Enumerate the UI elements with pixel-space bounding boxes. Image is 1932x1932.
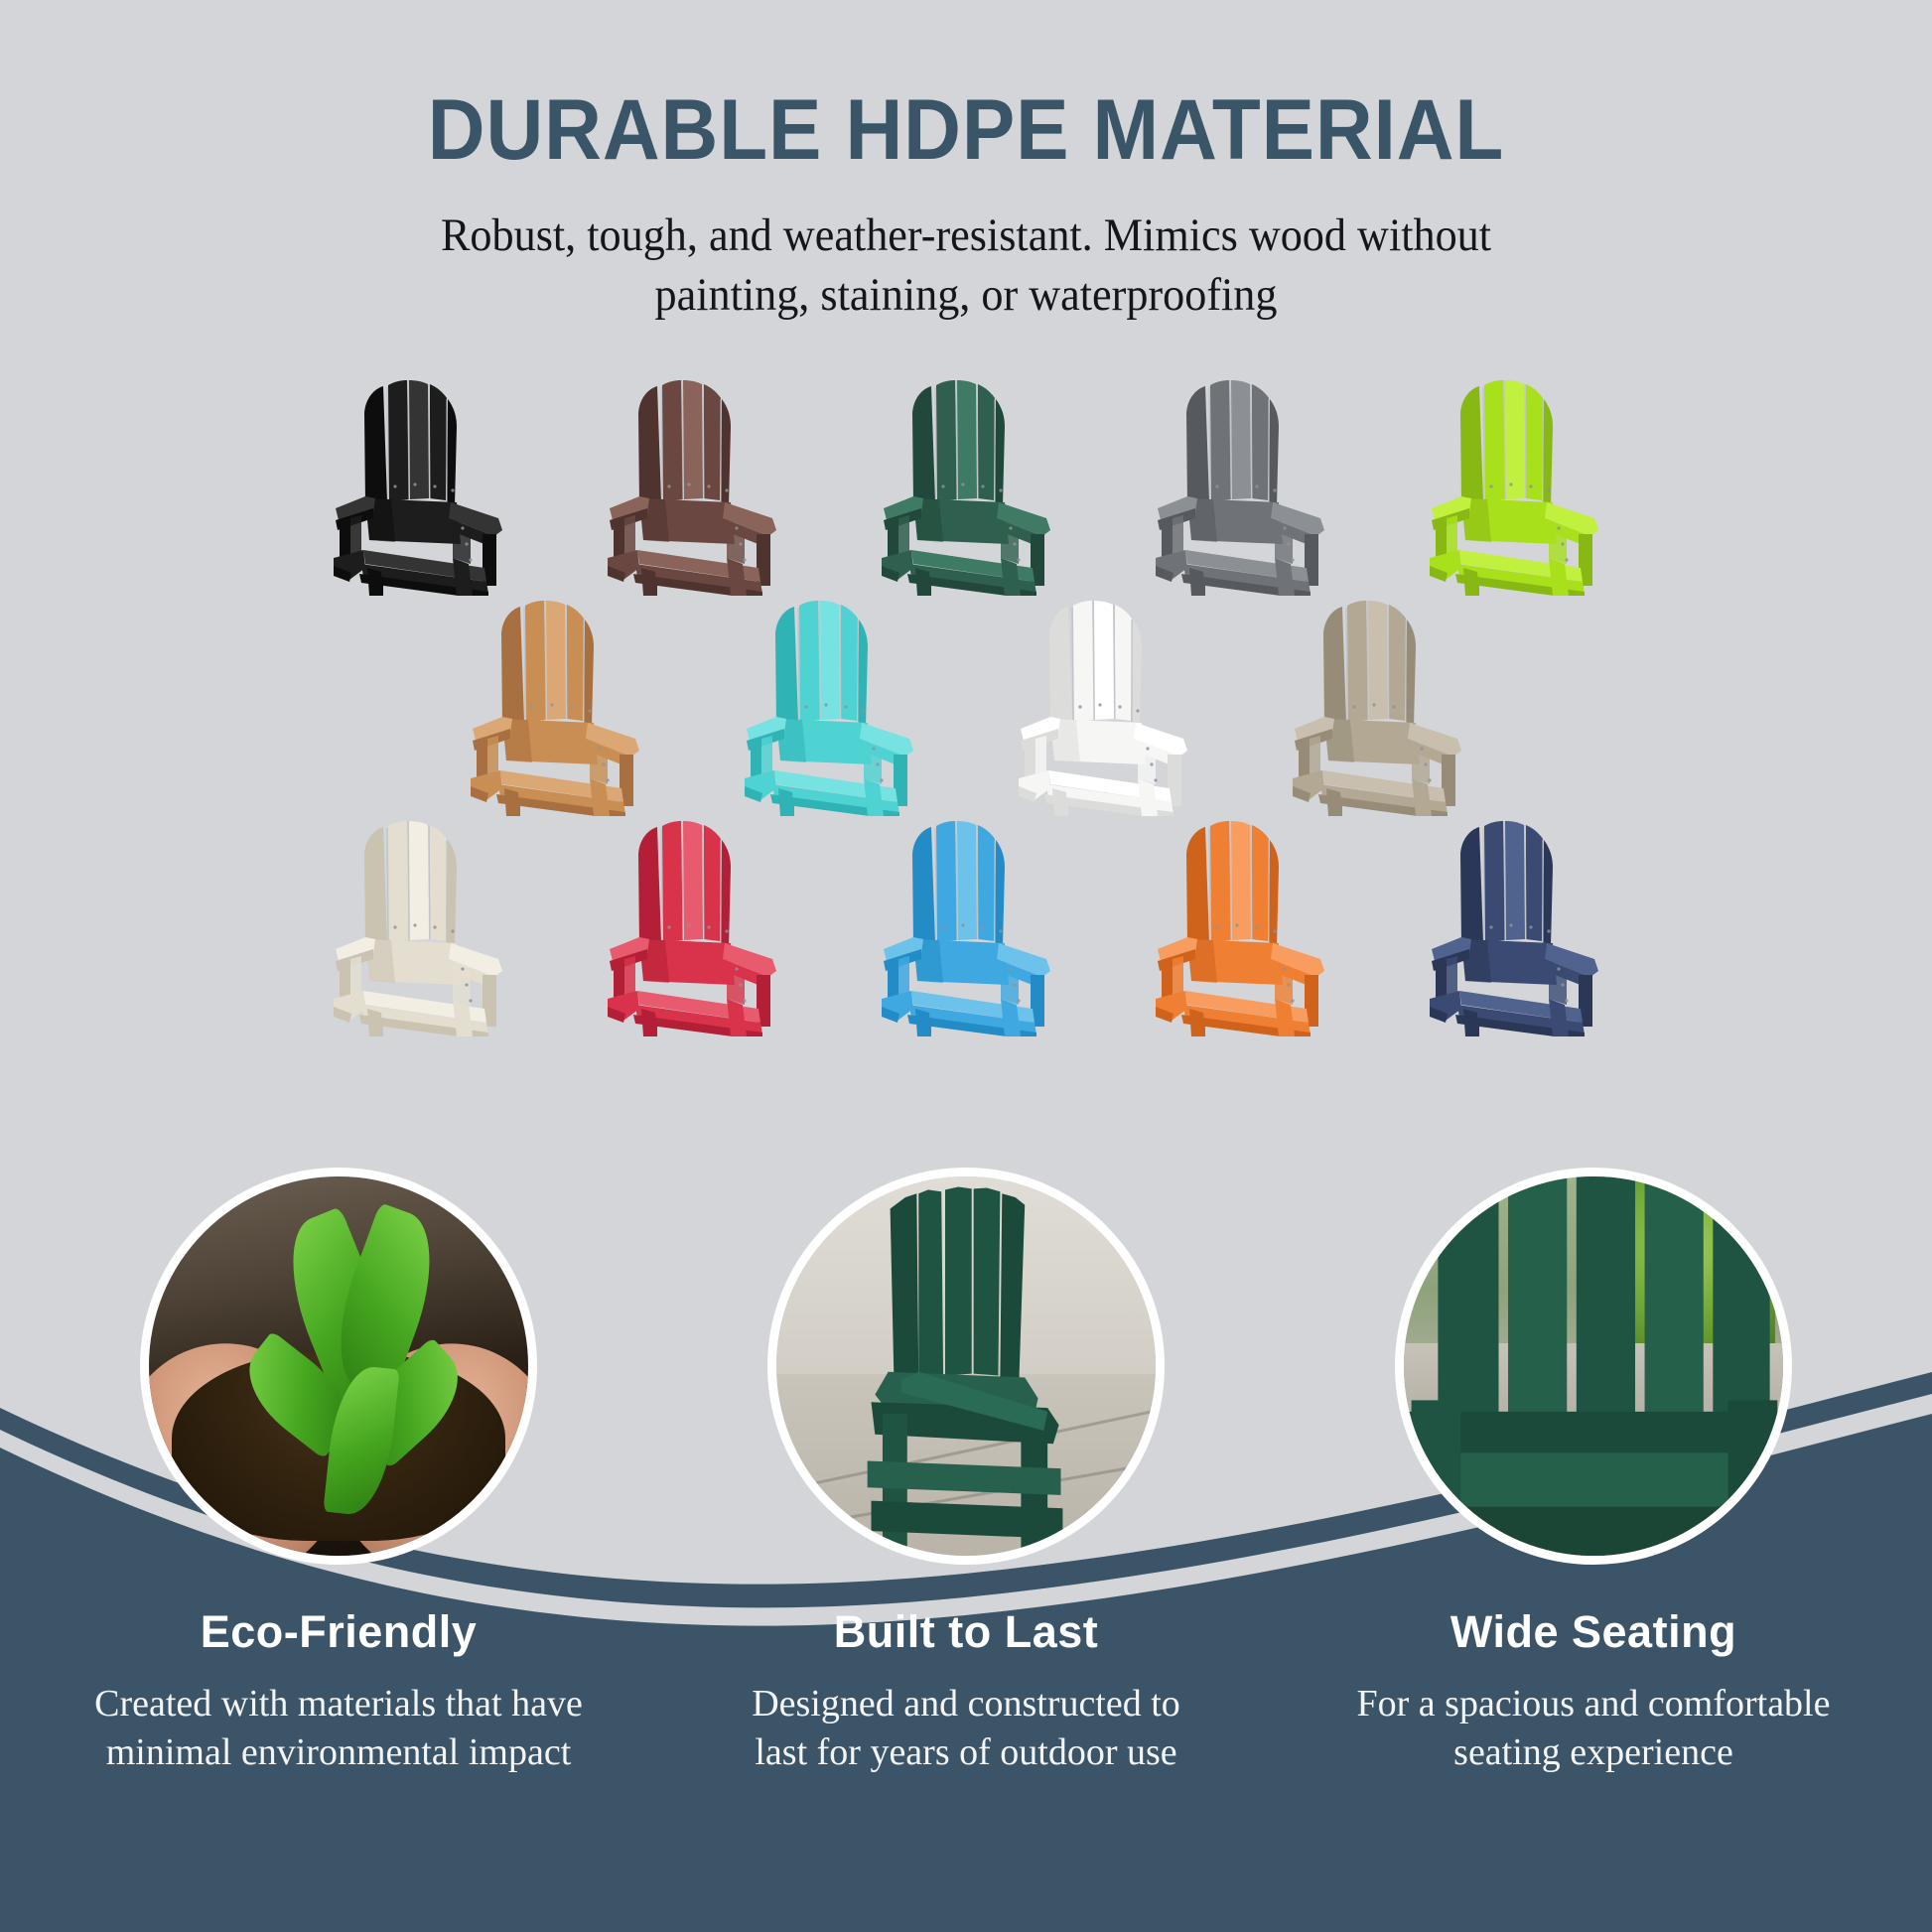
hands-holding-seedling-photo — [149, 1176, 528, 1556]
adirondack-chair-gray-icon — [1126, 369, 1354, 596]
adirondack-chair-turquoise-icon — [715, 590, 943, 816]
chair-swatch-khaki[interactable] — [1240, 590, 1514, 810]
chair-row-3 — [0, 810, 1932, 1031]
chair-swatch-ivory-cream[interactable] — [281, 810, 555, 1031]
adirondack-chair-camel-tan-icon — [441, 590, 669, 816]
feature-description-line-1: Created with materials that have — [47, 1680, 630, 1728]
adirondack-chair-orange-icon — [1126, 810, 1354, 1036]
subtitle-line-1: Robust, tough, and weather-resistant. Mi… — [58, 207, 1873, 266]
chair-row-2 — [0, 590, 1932, 810]
adirondack-chair-ivory-cream-icon — [304, 810, 532, 1036]
chair-swatch-orange[interactable] — [1103, 810, 1377, 1031]
chair-swatch-dark-green[interactable] — [829, 369, 1103, 590]
feature-photo-eco-friendly — [140, 1168, 537, 1565]
chair-swatch-turquoise[interactable] — [692, 590, 966, 810]
feature-description-line-1: Designed and constructed to — [674, 1680, 1258, 1728]
chair-swatch-camel-tan[interactable] — [418, 590, 692, 810]
feature-description-line-2: last for years of outdoor use — [674, 1728, 1258, 1777]
feature-description: Designed and constructed to last for yea… — [652, 1680, 1280, 1778]
feature-description-line-2: seating experience — [1302, 1728, 1885, 1777]
adirondack-chair-dark-green-icon — [852, 369, 1080, 596]
chair-swatch-navy-blue[interactable] — [1377, 810, 1651, 1031]
chair-swatch-black[interactable] — [281, 369, 555, 590]
adirondack-chair-light-blue-icon — [852, 810, 1080, 1036]
adirondack-chair-white-icon — [989, 590, 1217, 816]
feature-built-to-last: Built to Last Designed and constructed t… — [652, 1168, 1280, 1932]
page-title: DURABLE HDPE MATERIAL — [68, 87, 1864, 173]
chair-swatch-crimson-red[interactable] — [555, 810, 829, 1031]
feature-wide-seating: Wide Seating For a spacious and comforta… — [1280, 1168, 1907, 1932]
feature-title: Built to Last — [652, 1606, 1280, 1658]
feature-description-line-2: minimal environmental impact — [47, 1728, 630, 1777]
feature-title: Wide Seating — [1280, 1606, 1907, 1658]
adirondack-chair-khaki-icon — [1263, 590, 1491, 816]
subtitle-line-2: painting, staining, or waterproofing — [58, 266, 1873, 326]
chair-swatch-gray[interactable] — [1103, 369, 1377, 590]
green-chair-wide-seat-closeup-photo — [1404, 1176, 1783, 1556]
feature-photo-built-to-last — [767, 1168, 1165, 1565]
green-adirondack-chair-on-patio-photo — [776, 1176, 1156, 1556]
feature-description-line-1: For a spacious and comfortable — [1302, 1680, 1885, 1728]
chair-swatch-white[interactable] — [966, 590, 1240, 810]
green-chair-illustration — [776, 1176, 1156, 1556]
feature-photo-wide-seating — [1395, 1168, 1792, 1565]
page-subtitle: Robust, tough, and weather-resistant. Mi… — [58, 207, 1873, 325]
adirondack-chair-navy-blue-icon — [1400, 810, 1628, 1036]
header: DURABLE HDPE MATERIAL Robust, tough, and… — [0, 0, 1932, 325]
feature-description: Created with materials that have minimal… — [25, 1680, 652, 1778]
feature-eco-friendly: Eco-Friendly Created with materials that… — [25, 1168, 652, 1932]
chair-color-grid — [0, 369, 1932, 1031]
chair-row-1 — [0, 369, 1932, 590]
feature-title: Eco-Friendly — [25, 1606, 652, 1658]
chair-swatch-light-blue[interactable] — [829, 810, 1103, 1031]
chair-swatch-brown[interactable] — [555, 369, 829, 590]
adirondack-chair-black-icon — [304, 369, 532, 596]
feature-description: For a spacious and comfortable seating e… — [1280, 1680, 1907, 1778]
adirondack-chair-crimson-red-icon — [578, 810, 806, 1036]
adirondack-chair-brown-icon — [578, 369, 806, 596]
wide-seat-illustration — [1404, 1176, 1783, 1556]
adirondack-chair-lime-green-icon — [1400, 369, 1628, 596]
chair-swatch-lime-green[interactable] — [1377, 369, 1651, 590]
feature-section: Eco-Friendly Created with materials that… — [0, 1168, 1932, 1932]
